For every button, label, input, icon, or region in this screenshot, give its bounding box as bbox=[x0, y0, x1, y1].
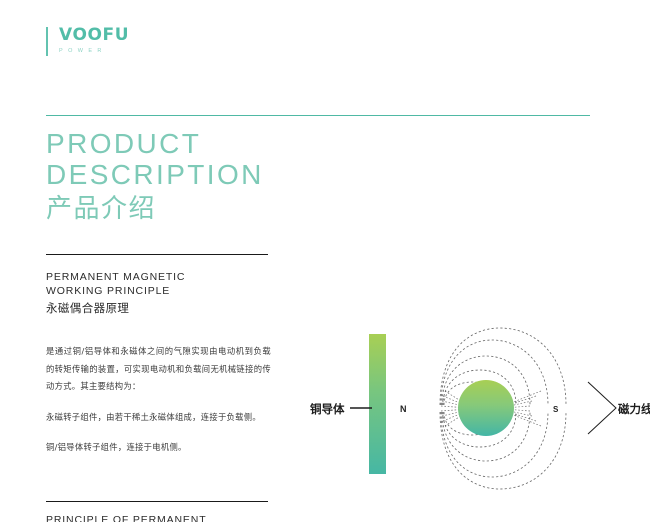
logo-text-wrap: VOOFU POWER bbox=[59, 27, 129, 56]
brand-name: VOOFU bbox=[59, 27, 129, 44]
body-paragraph: 是通过铜/铝导体和永磁体之间的气隙实现由电动机到负载的转矩传输的装置，可实现电动… bbox=[46, 343, 271, 396]
logo-accent-bar bbox=[46, 27, 48, 56]
section-heading-cn: 永磁偶合器原理 bbox=[46, 300, 286, 316]
divider-dark-section bbox=[46, 254, 268, 255]
bottom-section-heading: PRINCIPLE OF PERMANENT bbox=[46, 513, 286, 522]
divider-dark-bottom bbox=[46, 501, 268, 502]
body-paragraph: 铜/铝导体转子组件，连接于电机侧。 bbox=[46, 439, 271, 457]
body-text-column: 是通过铜/铝导体和永磁体之间的气隙实现由电动机到负载的转矩传输的装置，可实现电动… bbox=[46, 343, 271, 457]
page-header: VOOFU POWER bbox=[0, 0, 650, 95]
pole-label-north: N bbox=[400, 404, 407, 414]
page-title: PRODUCT DESCRIPTION 产品介绍 bbox=[46, 128, 264, 226]
section-heading: PERMANENT MAGNETIC WORKING PRINCIPLE 永磁偶… bbox=[46, 270, 286, 316]
divider-green-top bbox=[46, 115, 590, 116]
body-paragraph: 永磁转子组件，由若干稀土永磁体组成，连接于负载侧。 bbox=[46, 409, 271, 427]
copper-conductor-bar bbox=[369, 334, 386, 474]
brand-tagline: POWER bbox=[59, 48, 129, 55]
leader-bracket-right bbox=[588, 382, 616, 434]
brand-logo: VOOFU POWER bbox=[46, 27, 129, 56]
page-title-line2: DESCRIPTION bbox=[46, 159, 264, 190]
page-title-line1: PRODUCT bbox=[46, 128, 264, 159]
pole-label-south: S bbox=[553, 405, 559, 414]
permanent-magnet bbox=[458, 380, 514, 436]
magnetic-field-diagram: N S 铜导体 磁力线 bbox=[300, 320, 650, 505]
section-heading-en-line2: WORKING PRINCIPLE bbox=[46, 284, 286, 298]
section-heading-en-line1: PERMANENT MAGNETIC bbox=[46, 270, 286, 284]
field-line-label: 磁力线 bbox=[618, 402, 650, 416]
copper-conductor-label: 铜导体 bbox=[309, 402, 345, 416]
page-title-chinese: 产品介绍 bbox=[46, 192, 264, 226]
